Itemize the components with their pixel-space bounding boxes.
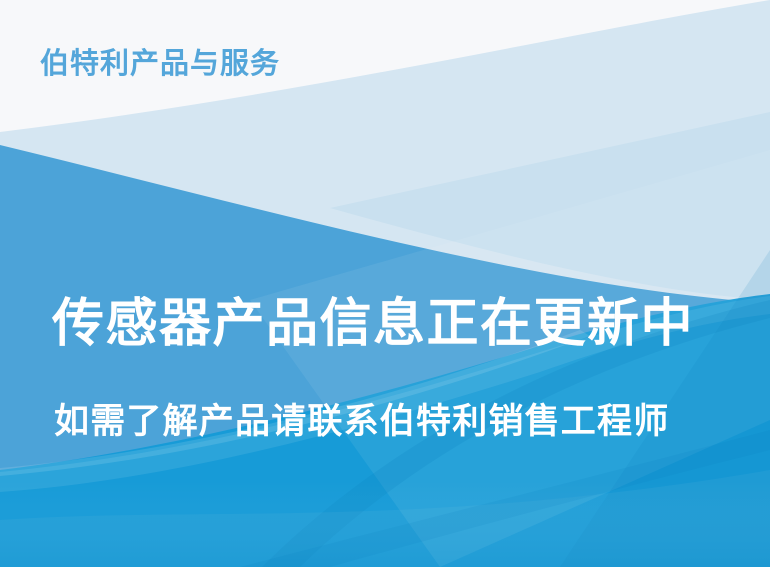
- abstract-background-graphic: [0, 0, 770, 567]
- brand-title: 伯特利产品与服务: [40, 50, 280, 79]
- headline: 传感器产品信息正在更新中: [52, 298, 694, 350]
- product-service-banner: 伯特利产品与服务 传感器产品信息正在更新中 如需了解产品请联系伯特利销售工程师: [0, 0, 770, 567]
- subheadline: 如需了解产品请联系伯特利销售工程师: [54, 404, 669, 439]
